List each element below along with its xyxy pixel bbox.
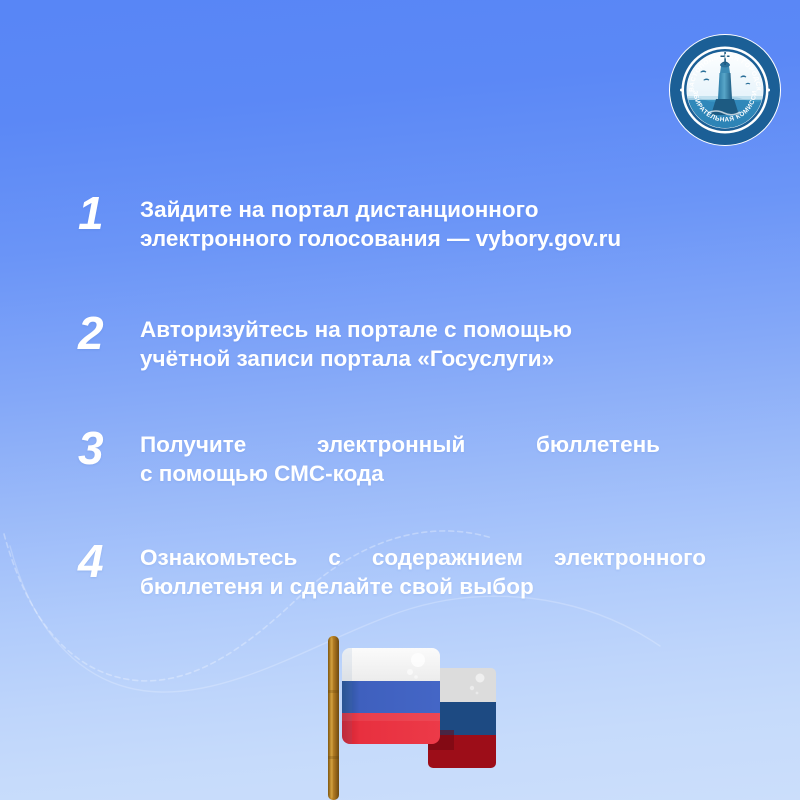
- flagpole: [328, 636, 339, 800]
- flag-front-panel: [342, 648, 440, 744]
- step-2-line-1: Авторизуйтесь на портале с помощью: [140, 316, 572, 345]
- word: электронный: [317, 431, 465, 460]
- step-1-line-1: Зайдите на портал дистанционного: [140, 196, 621, 225]
- step-number-1: 1: [78, 190, 134, 236]
- poster-root: СЕВАСТОПОЛЬСКАЯ ГОРОДСКАЯ ИЗБИРАТЕЛЬНАЯ …: [0, 0, 800, 800]
- step-2-line-2: учётной записи портала «Госуслуги»: [140, 345, 572, 374]
- step-number-4: 4: [78, 538, 134, 584]
- word: бюллетень: [536, 431, 660, 460]
- step-text-4: Ознакомьтесьссодеражниемэлектронного бюл…: [140, 544, 706, 601]
- word: электронного: [554, 544, 706, 573]
- step-text-3: Получитеэлектронныйбюллетень с помощью С…: [140, 431, 660, 488]
- word: Ознакомьтесь: [140, 544, 297, 573]
- step-number-2: 2: [78, 310, 134, 356]
- word: Получите: [140, 431, 246, 460]
- step-text-1: Зайдите на портал дистанционного электро…: [140, 196, 621, 253]
- step-number-3: 3: [78, 425, 134, 471]
- step-4-line-2: бюллетеня и сделайте свой выбор: [140, 573, 706, 602]
- step-4-line-1: Ознакомьтесьссодеражниемэлектронного: [140, 544, 706, 573]
- step-1-line-2: электронного голосования — vybory.gov.ru: [140, 225, 621, 254]
- step-text-2: Авторизуйтесь на портале с помощью учётн…: [140, 316, 572, 373]
- step-3-line-2: с помощью СМС-кода: [140, 460, 660, 489]
- russian-flag-illustration: [300, 630, 520, 800]
- step-3-line-1: Получитеэлектронныйбюллетень: [140, 431, 660, 460]
- word: содеражнием: [372, 544, 523, 573]
- word: с: [328, 544, 341, 573]
